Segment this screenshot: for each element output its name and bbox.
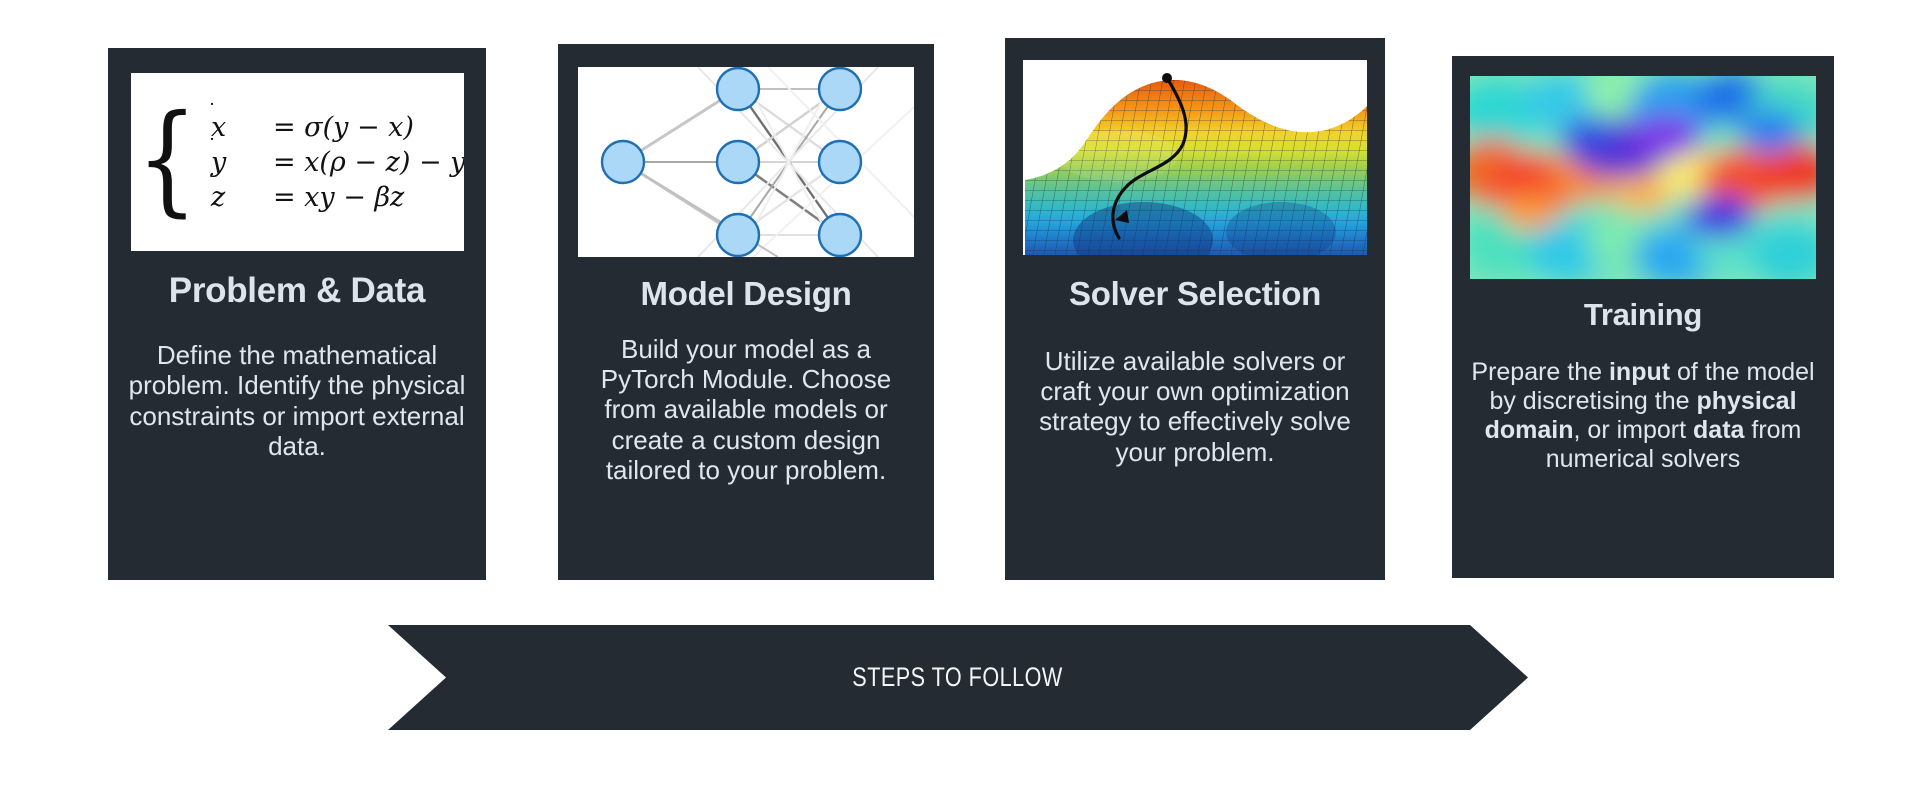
equation-row: ̇z = xy − βz — [211, 182, 464, 213]
left-brace-glyph: { — [136, 113, 197, 207]
scalar-field-heatmap-icon — [1470, 76, 1816, 279]
card-solver-selection[interactable]: Solver Selection Utilize available solve… — [1005, 38, 1385, 580]
nn-node — [717, 141, 759, 183]
nn-node — [602, 141, 644, 183]
steps-to-follow-banner: STEPS TO FOLLOW — [388, 625, 1528, 730]
pipeline-diagram: { ̇x = σ(y − x) ̇y = x(ρ − z) − y ̇z = x… — [0, 0, 1920, 785]
neural-network-graph-icon — [578, 67, 914, 257]
loss-surface-3d-icon — [1023, 60, 1367, 255]
equation-row: ̇y = x(ρ − z) − y — [211, 147, 464, 178]
card-body: Define the mathematical problem. Identif… — [108, 340, 486, 462]
field-heatmap-figure — [1470, 76, 1816, 279]
card-body: Build your model as a PyTorch Module. Ch… — [558, 334, 934, 486]
nn-node — [819, 68, 861, 110]
card-problem-and-data[interactable]: { ̇x = σ(y − x) ̇y = x(ρ − z) − y ̇z = x… — [108, 48, 486, 580]
loss-landscape-figure — [1023, 60, 1367, 255]
nn-node — [717, 68, 759, 110]
banner-label: STEPS TO FOLLOW — [853, 662, 1063, 693]
card-title: Model Design — [558, 277, 934, 312]
card-body: Prepare the input of the model by discre… — [1452, 358, 1834, 475]
equation-row: ̇x = σ(y − x) — [211, 112, 464, 143]
neural-network-figure — [578, 67, 914, 257]
card-training[interactable]: Training Prepare the input of the model … — [1452, 56, 1834, 578]
card-title: Solver Selection — [1005, 277, 1385, 312]
card-model-design[interactable]: Model Design Build your model as a PyTor… — [558, 44, 934, 580]
nn-node — [819, 141, 861, 183]
nn-node — [717, 214, 759, 256]
nn-node — [819, 214, 861, 256]
card-title: Training — [1452, 299, 1834, 332]
trajectory-start-point — [1162, 73, 1172, 83]
lorenz-equations-figure: { ̇x = σ(y − x) ̇y = x(ρ − z) − y ̇z = x… — [131, 73, 464, 251]
card-body: Utilize available solvers or craft your … — [1005, 346, 1385, 468]
card-title: Problem & Data — [108, 273, 486, 310]
